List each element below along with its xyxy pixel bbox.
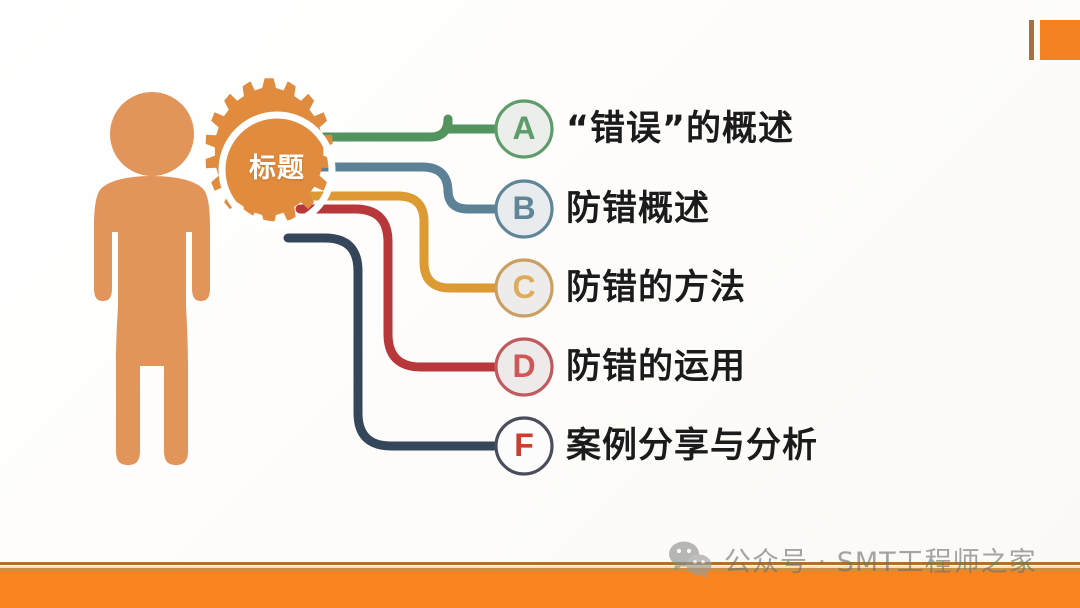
circle-letter-d: D (493, 348, 555, 385)
person-pictogram (94, 92, 210, 465)
agenda-label-c[interactable]: 防错的方法 (566, 261, 746, 315)
gear-title: 标题 (229, 146, 325, 185)
slide-canvas: 标题 A B C D F “错误”的概述 防错概述 防错的方法 防错的运用 案例… (0, 0, 1080, 608)
connector-line-a (300, 119, 496, 137)
circle-letter-c: C (493, 269, 555, 306)
watermark-text: 公众号 · SMT工程师之家 (724, 540, 1037, 579)
agenda-label-d[interactable]: 防错的运用 (566, 340, 746, 394)
watermark: 公众号 · SMT工程师之家 (668, 536, 1037, 582)
agenda-label-a[interactable]: “错误”的概述 (566, 102, 794, 156)
agenda-label-b[interactable]: 防错概述 (566, 182, 710, 236)
agenda-label-f[interactable]: 案例分享与分析 (566, 419, 818, 473)
circle-letter-b: B (493, 190, 555, 227)
wechat-icon (668, 541, 712, 577)
circle-letter-a: A (493, 110, 555, 147)
circle-letter-f: F (493, 427, 555, 464)
